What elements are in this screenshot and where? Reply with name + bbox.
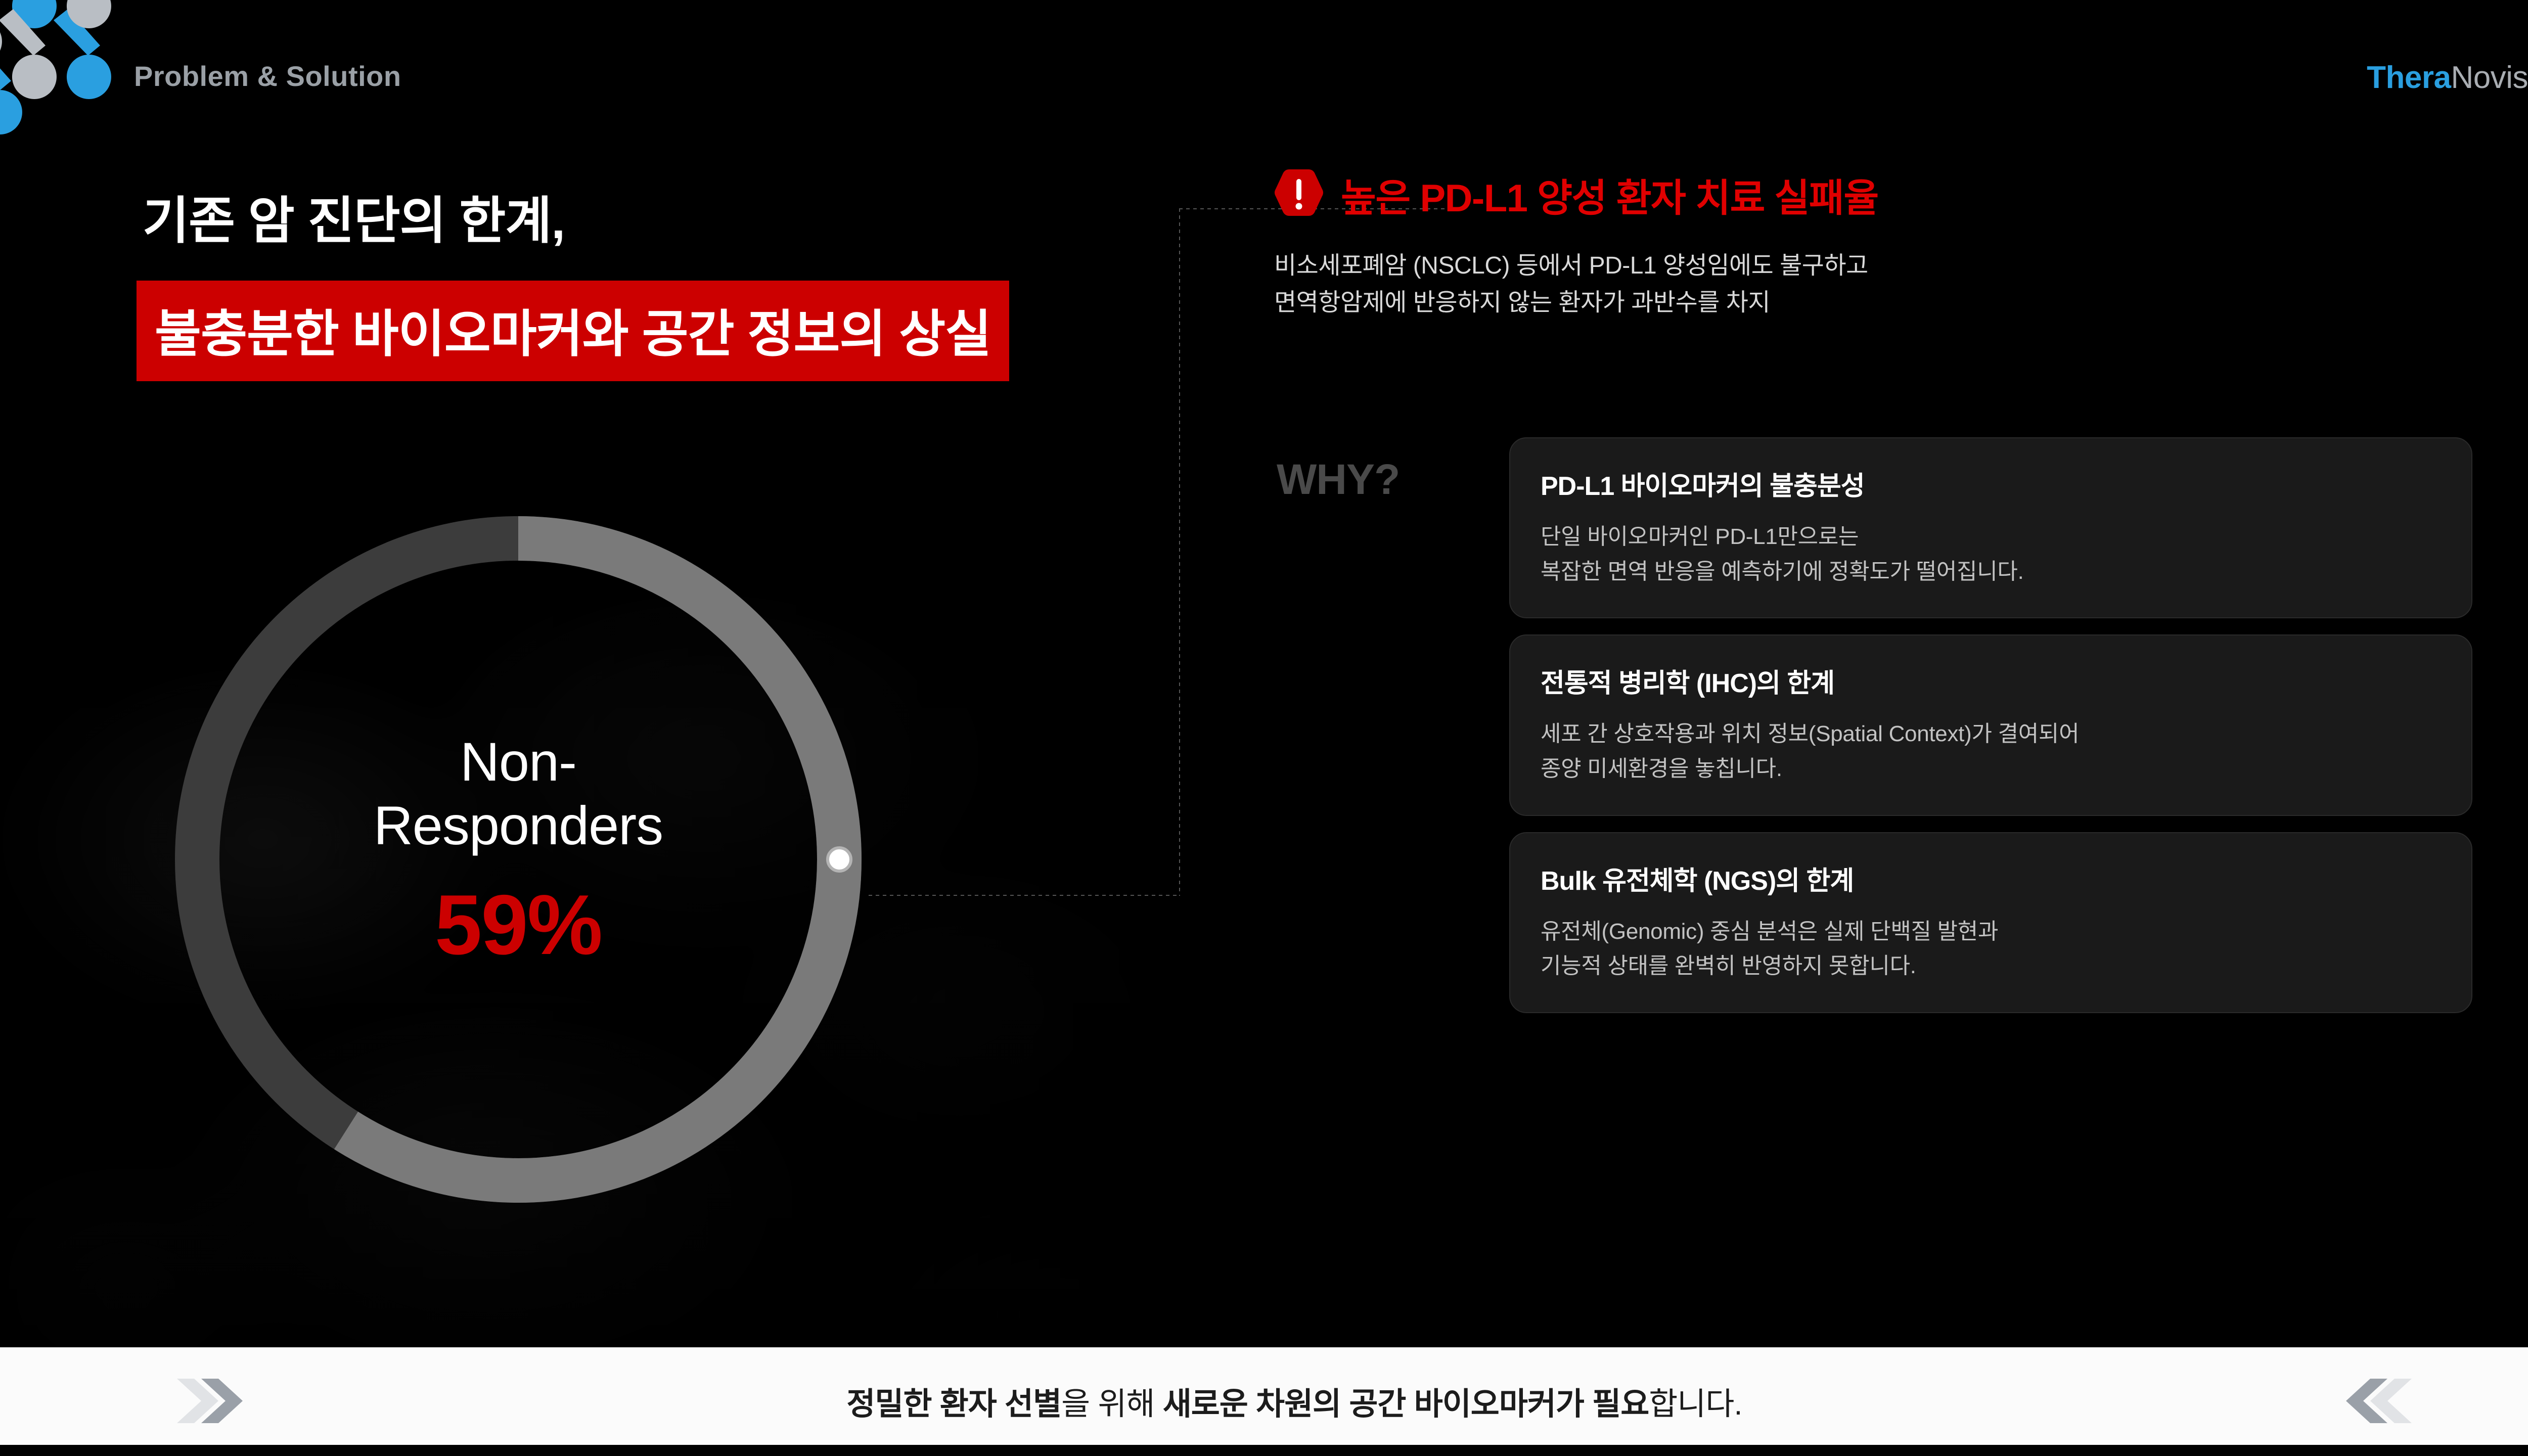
reason-card-body-line1: 단일 바이오마커인 PD-L1만으로는 xyxy=(1541,524,1859,549)
reason-card[interactable]: Bulk 유전체학 (NGS)의 한계 유전체(Genomic) 중심 분석은 … xyxy=(1509,832,2472,1013)
brand-logo: TheraNovis xyxy=(2367,60,2528,96)
donut-endpoint-dot-icon xyxy=(826,846,852,873)
reason-card[interactable]: PD-L1 바이오마커의 불충분성 단일 바이오마커인 PD-L1만으로는 복잡… xyxy=(1509,437,2472,618)
slide-root: Problem & Solution TheraNovis 기존 암 진단의 한… xyxy=(0,0,2528,1456)
reason-card-body-line2: 기능적 상태를 완벽히 반영하지 못합니다. xyxy=(1541,953,1916,978)
right-panel-header: 높은 PD-L1 양성 환자 치료 실패율 xyxy=(1274,167,2528,222)
brand-name-primary: Thera xyxy=(2367,60,2451,95)
footer-message-normal-2: 합니다. xyxy=(1649,1387,1742,1422)
reason-card-body: 세포 간 상호작용과 위치 정보(Spatial Context)가 결여되어 … xyxy=(1541,717,2441,786)
footer-bar: 정밀한 환자 선별을 위해 새로운 차원의 공간 바이오마커가 필요합니다. xyxy=(0,1346,2528,1456)
reason-card-body-line1: 세포 간 상호작용과 위치 정보(Spatial Context)가 결여되어 xyxy=(1541,721,2079,746)
right-panel-subtitle-line1: 비소세포폐암 (NSCLC) 등에서 PD-L1 양성임에도 불구하고 xyxy=(1274,252,1868,279)
page-title-highlight: 불충분한 바이오마커와 공간 정보의 상실 xyxy=(137,281,1009,381)
why-label: WHY? xyxy=(1277,455,1400,504)
reason-card-title: PD-L1 바이오마커의 불충분성 xyxy=(1541,465,2441,503)
connector-line-vertical xyxy=(1179,208,1180,896)
donut-chart: Non- Responders 59% xyxy=(142,483,895,1236)
footer-message: 정밀한 환자 선별을 위해 새로운 차원의 공간 바이오마커가 필요합니다. xyxy=(846,1378,1742,1424)
donut-label-line1: Non- xyxy=(460,731,576,792)
right-panel-title: 높은 PD-L1 양성 환자 치료 실패율 xyxy=(1341,167,1878,222)
reason-card-body: 단일 바이오마커인 PD-L1만으로는 복잡한 면역 반응을 예측하기에 정확도… xyxy=(1541,520,2441,589)
footer-message-bold-1: 정밀한 환자 선별 xyxy=(846,1387,1061,1422)
right-panel: 높은 PD-L1 양성 환자 치료 실패율 비소세포폐암 (NSCLC) 등에서… xyxy=(1274,167,2528,322)
double-chevron-right-icon xyxy=(172,1374,248,1428)
donut-center-content: Non- Responders 59% xyxy=(142,483,895,1236)
brand-name-secondary: Novis xyxy=(2451,60,2528,95)
reason-card-body: 유전체(Genomic) 중심 분석은 실제 단백질 발현과 기능적 상태를 완… xyxy=(1541,915,2441,984)
reason-card[interactable]: 전통적 병리학 (IHC)의 한계 세포 간 상호작용과 위치 정보(Spati… xyxy=(1509,634,2472,815)
right-panel-subtitle: 비소세포폐암 (NSCLC) 등에서 PD-L1 양성임에도 불구하고 면역항암… xyxy=(1274,248,2528,322)
footer-top-rule xyxy=(0,1346,2528,1347)
reason-card-list: PD-L1 바이오마커의 불충분성 단일 바이오마커인 PD-L1만으로는 복잡… xyxy=(1509,437,2472,1029)
reason-card-title: 전통적 병리학 (IHC)의 한계 xyxy=(1541,662,2441,700)
footer-message-bold-2: 새로운 차원의 공간 바이오마커가 필요 xyxy=(1163,1387,1649,1422)
footer-bottom-strip xyxy=(0,1445,2528,1456)
reason-card-body-line1: 유전체(Genomic) 중심 분석은 실제 단백질 발현과 xyxy=(1541,919,1998,944)
footer-message-normal-1: 을 위해 xyxy=(1061,1387,1163,1422)
section-label: Problem & Solution xyxy=(134,60,401,93)
donut-label: Non- Responders xyxy=(374,730,663,857)
alert-hexagon-icon xyxy=(1274,168,1324,221)
donut-value: 59% xyxy=(435,876,602,974)
reason-card-body-line2: 복잡한 면역 반응을 예측하기에 정확도가 떨어집니다. xyxy=(1541,559,2024,584)
theranovis-logo-mark-icon xyxy=(0,0,137,136)
page-title-line1: 기존 암 진단의 한계, xyxy=(143,179,565,253)
double-chevron-left-icon xyxy=(2341,1374,2417,1428)
connector-line-horizontal xyxy=(869,895,1180,896)
reason-card-body-line2: 종양 미세환경을 놓칩니다. xyxy=(1541,756,1782,781)
reason-card-title: Bulk 유전체학 (NGS)의 한계 xyxy=(1541,859,2441,897)
donut-label-line2: Responders xyxy=(374,795,663,856)
right-panel-subtitle-line2: 면역항암제에 반응하지 않는 환자가 과반수를 차지 xyxy=(1274,289,1770,316)
